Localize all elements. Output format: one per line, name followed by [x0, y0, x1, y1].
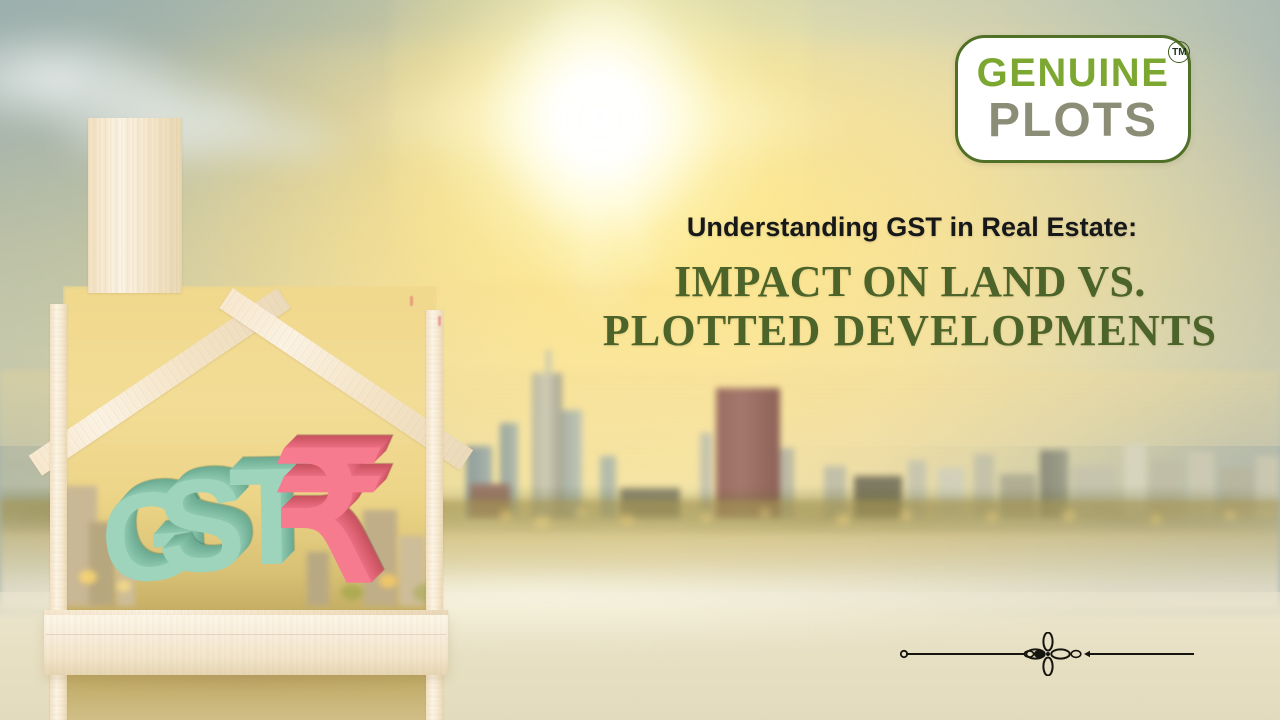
flourish-divider [898, 632, 1198, 676]
brand-logo[interactable]: GENUINE TM PLOTS [955, 35, 1191, 163]
trademark-icon: TM [1168, 41, 1190, 63]
nail [410, 296, 413, 306]
chimney [88, 118, 182, 293]
flourish-divider-icon [898, 632, 1198, 676]
rupee-symbol-3d: ₹ [272, 430, 385, 608]
photo-light [79, 570, 97, 584]
heading-block: Understanding GST in Real Estate: IMPACT… [560, 212, 1260, 356]
title-line-1: IMPACT ON LAND VS. [674, 257, 1146, 306]
building-spire [546, 350, 551, 378]
logo-top-row: GENUINE TM [977, 53, 1170, 93]
base-grain-line [46, 634, 446, 635]
wooden-house-frame: G S T ₹ [0, 118, 490, 678]
base-plank [44, 615, 448, 675]
logo-word-plots: PLOTS [988, 97, 1158, 145]
title-line-2: PLOTTED DEVELOPMENTS [560, 306, 1260, 355]
nail [438, 316, 441, 326]
logo-word-genuine: GENUINE [977, 53, 1170, 93]
page-title: IMPACT ON LAND VS. PLOTTED DEVELOPMENTS [560, 257, 1260, 356]
gst-real-estate-banner: G S T ₹ GENUINE TM PLOTS Understanding G… [0, 0, 1280, 720]
kicker-text: Understanding GST in Real Estate: [564, 212, 1260, 243]
